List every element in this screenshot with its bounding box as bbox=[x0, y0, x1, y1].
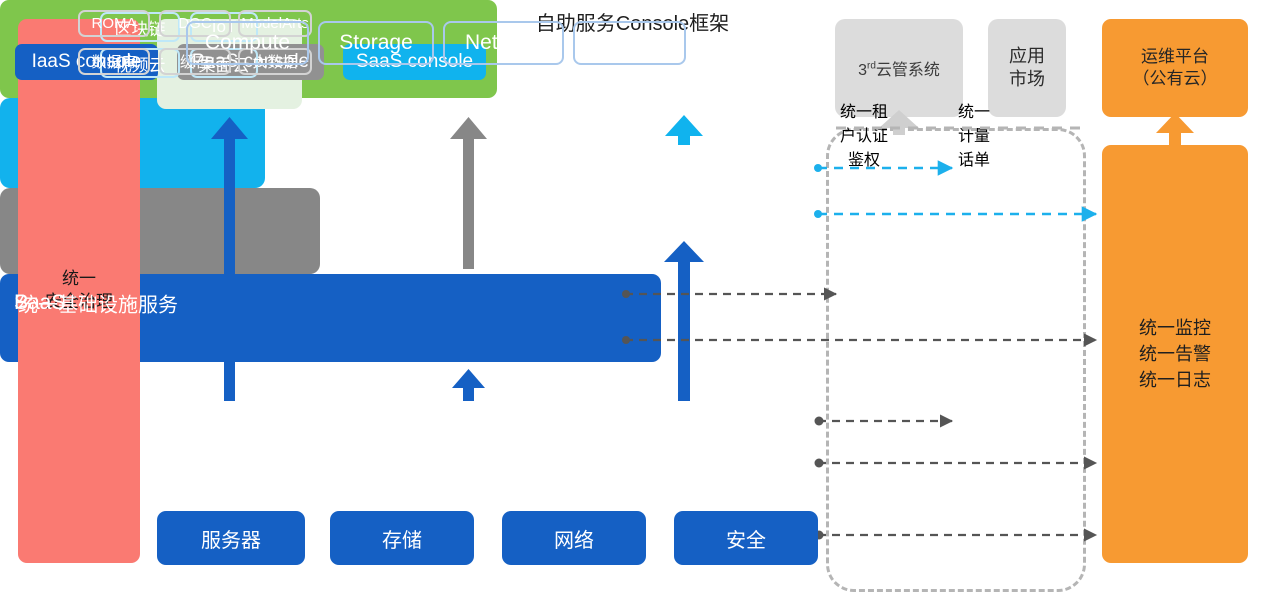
app-market-box: 应用 市场 bbox=[988, 19, 1066, 117]
unified-tenant-auth-column: 统一租 户认证 鉴权 bbox=[840, 98, 888, 170]
ops-platform-top-box: 运维平台 （公有云） bbox=[1102, 19, 1248, 117]
arrow-ops-body-to-ops-top bbox=[1156, 113, 1194, 145]
infra-tag-compute[interactable]: Compute bbox=[186, 21, 309, 65]
unified-metering-billing-column: 统一 计量 话单 bbox=[958, 98, 990, 170]
arrow-infra-to-paas bbox=[452, 369, 485, 401]
resource-box-server[interactable]: 服务器 bbox=[157, 511, 305, 565]
arrow-paas-to-console bbox=[450, 117, 487, 269]
infra-tag-storage[interactable]: Storage bbox=[318, 21, 434, 65]
ops-platform-body-box: 统一监控 统一告警 统一日志 bbox=[1102, 145, 1248, 563]
third-party-label: 3rd云管系统 bbox=[858, 56, 940, 80]
shared-services-dashed-container bbox=[826, 128, 1086, 592]
resource-box-security[interactable]: 安全 bbox=[674, 511, 818, 565]
infra-tag-network[interactable]: Network bbox=[443, 21, 564, 65]
paas-tag-database[interactable]: 数据库 bbox=[78, 48, 150, 75]
infrastructure-label: 统一基础设施服务 bbox=[18, 288, 178, 317]
resource-box-network[interactable]: 网络 bbox=[502, 511, 646, 565]
arrow-saas-to-saas-console bbox=[665, 115, 703, 145]
arrow-infra-to-saas bbox=[664, 241, 704, 401]
resource-box-storage[interactable]: 存储 bbox=[330, 511, 474, 565]
paas-tag-roma[interactable]: ROMA bbox=[78, 10, 150, 37]
architecture-diagram: 统一 安全治理 API网关 自助服务Console框架 IaaS console… bbox=[0, 0, 1265, 605]
infra-tag-cce[interactable]: CCE bbox=[573, 21, 686, 65]
